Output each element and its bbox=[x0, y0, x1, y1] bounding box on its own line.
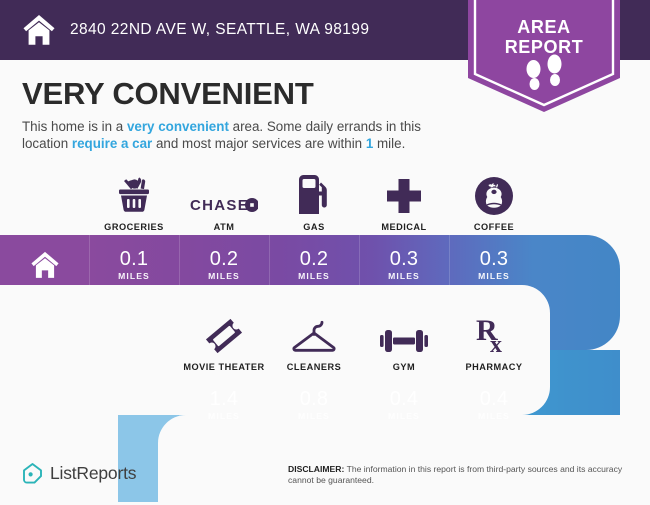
category-medical: MEDICAL bbox=[359, 172, 449, 232]
distance-unit: MILES bbox=[179, 271, 269, 281]
distance-value: 1.4 bbox=[179, 388, 269, 410]
distance-unit: MILES bbox=[89, 271, 179, 281]
category-groceries: GROCERIES bbox=[89, 172, 179, 232]
home-marker-cell bbox=[0, 235, 89, 294]
distance-unit: MILES bbox=[359, 411, 449, 421]
area-report-infographic: 2840 22ND AVE W, SEATTLE, WA 98199 AREA … bbox=[0, 0, 650, 502]
category-pharmacy: R x PHARMACY bbox=[449, 312, 539, 372]
distance-cell: 0.8 MILES bbox=[269, 388, 359, 421]
category-movie-theater: MOVIE THEATER bbox=[179, 312, 269, 372]
distance-value: 0.3 bbox=[449, 248, 539, 270]
distance-cell: 0.3 MILES bbox=[359, 248, 449, 281]
category-label: MOVIE THEATER bbox=[179, 362, 269, 372]
listreports-logo: ListReports bbox=[22, 462, 136, 485]
area-report-badge: AREA REPORT bbox=[468, 0, 620, 112]
grocery-basket-icon bbox=[89, 172, 179, 216]
property-address: 2840 22ND AVE W, SEATTLE, WA 98199 bbox=[70, 21, 369, 39]
category-label: GYM bbox=[359, 362, 449, 372]
distance-value: 0.2 bbox=[179, 248, 269, 270]
badge-line-2: REPORT bbox=[468, 37, 620, 57]
distance-cell: 0.2 MILES bbox=[179, 248, 269, 281]
distance-value: 0.4 bbox=[449, 388, 539, 410]
distance-unit: MILES bbox=[449, 271, 539, 281]
category-label: GAS bbox=[269, 222, 359, 232]
desc-part-1: This home is in a bbox=[22, 119, 127, 134]
desc-part-3: and most major services are within bbox=[152, 136, 366, 151]
distance-cell: 1.4 MILES bbox=[179, 388, 269, 421]
svg-text:CHASE: CHASE bbox=[190, 197, 249, 214]
desc-highlight-1: very convenient bbox=[127, 119, 229, 134]
category-label: GROCERIES bbox=[89, 222, 179, 232]
distance-unit: MILES bbox=[269, 271, 359, 281]
category-label: CLEANERS bbox=[269, 362, 359, 372]
category-label: COFFEE bbox=[449, 222, 539, 232]
distance-unit: MILES bbox=[449, 411, 539, 421]
svg-text:x: x bbox=[490, 332, 502, 356]
distance-cell: 0.4 MILES bbox=[359, 388, 449, 421]
gas-pump-icon bbox=[269, 172, 359, 216]
desc-highlight-2: require a car bbox=[72, 136, 152, 151]
page-title: VERY CONVENIENT bbox=[22, 76, 314, 112]
rx-prescription-icon: R x bbox=[449, 312, 539, 356]
movie-ticket-icon bbox=[179, 312, 269, 356]
disclaimer: DISCLAIMER: The information in this repo… bbox=[288, 464, 636, 487]
distance-unit: MILES bbox=[179, 411, 269, 421]
category-label: ATM bbox=[179, 222, 269, 232]
distance-value: 0.2 bbox=[269, 248, 359, 270]
badge-text: AREA REPORT bbox=[468, 17, 620, 57]
category-label: PHARMACY bbox=[449, 362, 539, 372]
category-gas: GAS bbox=[269, 172, 359, 232]
distance-unit: MILES bbox=[359, 271, 449, 281]
distance-cell: 0.3 MILES bbox=[449, 248, 539, 281]
category-gym: GYM bbox=[359, 312, 449, 372]
medical-cross-icon bbox=[359, 172, 449, 216]
distance-value: 0.3 bbox=[359, 248, 449, 270]
distance-cell: 0.1 MILES bbox=[89, 248, 179, 281]
category-cleaners: CLEANERS bbox=[269, 312, 359, 372]
category-label: MEDICAL bbox=[359, 222, 449, 232]
desc-part-4: mile. bbox=[373, 136, 405, 151]
distance-unit: MILES bbox=[269, 411, 359, 421]
home-icon bbox=[22, 14, 56, 46]
dumbbell-icon bbox=[359, 312, 449, 356]
category-coffee: COFFEE bbox=[449, 172, 539, 232]
starbucks-logo-icon bbox=[449, 172, 539, 216]
distance-value: 0.1 bbox=[89, 248, 179, 270]
listreports-house-icon bbox=[22, 462, 43, 485]
distance-cell: 0.2 MILES bbox=[269, 248, 359, 281]
clothes-hanger-icon bbox=[269, 312, 359, 356]
disclaimer-label: DISCLAIMER: bbox=[288, 464, 344, 474]
distance-value: 0.8 bbox=[269, 388, 359, 410]
home-icon bbox=[30, 251, 60, 279]
category-atm: CHASE ATM bbox=[179, 172, 269, 232]
distance-value: 0.4 bbox=[359, 388, 449, 410]
badge-line-1: AREA bbox=[468, 17, 620, 37]
page-description: This home is in a very convenient area. … bbox=[22, 118, 462, 152]
distance-cell: 0.4 MILES bbox=[449, 388, 539, 421]
chase-bank-logo-icon: CHASE bbox=[179, 172, 269, 216]
logo-text: ListReports bbox=[50, 463, 136, 484]
